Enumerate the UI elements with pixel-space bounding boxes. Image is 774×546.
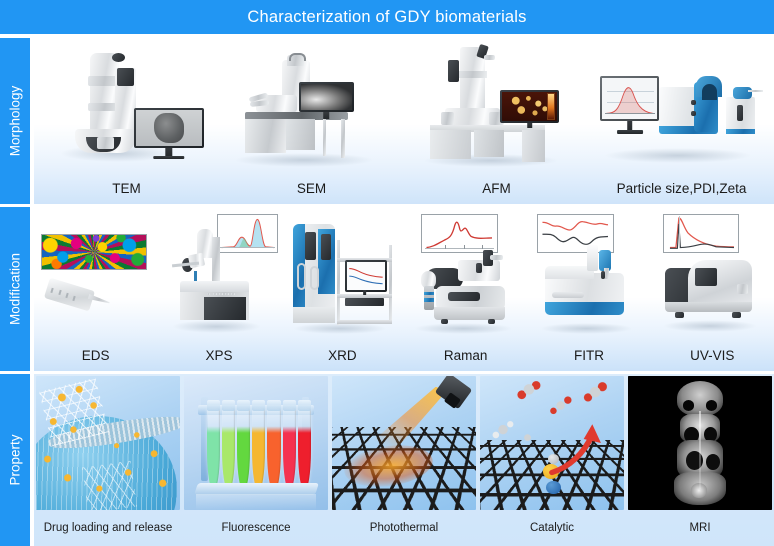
fluorescence-tube <box>283 408 296 491</box>
xrd-instrument-icon <box>281 211 404 341</box>
sem-monitor <box>299 82 355 112</box>
cell-caption: Catalytic <box>478 522 626 534</box>
drug-release-illustration <box>36 376 180 510</box>
cell-caption: XRD <box>281 348 404 363</box>
dls-monitor <box>600 76 659 121</box>
uvvis-absorbance-chart <box>663 214 739 253</box>
cell-particle-size: Particle size,PDI,Zeta <box>589 38 774 204</box>
afm-instrument-icon <box>404 42 589 174</box>
catalysis-molecules-illustration <box>480 376 624 510</box>
cell-uv-vis: UV-VIS <box>651 207 774 371</box>
row-body-modification: EDS <box>34 207 774 371</box>
tem-monitor <box>134 108 204 148</box>
cell-tem: TEM <box>34 38 219 204</box>
dls-instrument-icon <box>589 42 774 174</box>
xrd-monitor <box>345 260 387 291</box>
row-morphology: Morphology <box>0 38 774 204</box>
tube-cap <box>222 400 235 412</box>
cell-caption: TEM <box>34 181 219 196</box>
afm-monitor <box>500 90 559 123</box>
row-tab-label: Morphology <box>8 86 23 157</box>
cell-catalytic: Catalytic <box>478 374 626 546</box>
tube-cap <box>252 400 265 412</box>
tube-cap <box>267 400 280 412</box>
cell-caption: Raman <box>404 348 527 363</box>
cell-raman: Raman <box>404 207 527 371</box>
cell-xrd: XRD <box>281 207 404 371</box>
cell-caption: FITR <box>527 348 650 363</box>
sem-instrument-icon <box>219 42 404 174</box>
mri-mouse-scan-image <box>628 376 772 510</box>
cell-caption: EDS <box>34 348 157 363</box>
fluorescence-tube <box>237 408 250 491</box>
row-modification: Modification <box>0 207 774 371</box>
row-body-property: Drug loading and release <box>34 374 774 546</box>
row-tab-label: Property <box>8 434 23 485</box>
eds-detector-icon <box>34 211 157 341</box>
fluorescence-tube <box>252 408 265 491</box>
row-tab-label: Modification <box>8 253 23 325</box>
ftir-instrument-icon <box>527 211 650 341</box>
xps-instrument-icon <box>157 211 280 341</box>
fluorescence-tube <box>207 408 220 491</box>
ftir-transmittance-chart <box>537 214 613 253</box>
tube-cap <box>207 400 220 412</box>
cell-caption: Photothermal <box>330 522 478 534</box>
cell-mri: MRI <box>626 374 774 546</box>
figure-header: Characterization of GDY biomaterials <box>0 0 774 34</box>
cell-caption: UV-VIS <box>651 348 774 363</box>
raman-spectrum-chart <box>421 214 497 253</box>
row-tab-modification: Modification <box>0 207 30 371</box>
fluorescence-tubes-illustration <box>184 376 328 510</box>
tube-cap <box>283 400 296 412</box>
row-tab-property: Property <box>0 374 30 546</box>
page-title: Characterization of GDY biomaterials <box>247 8 526 27</box>
cell-fluorescence: Fluorescence <box>182 374 330 546</box>
eds-elemental-map <box>41 234 147 270</box>
cell-caption: Drug loading and release <box>34 522 182 534</box>
cell-fitr: FITR <box>527 207 650 371</box>
tube-cap <box>237 400 250 412</box>
cell-sem: SEM <box>219 38 404 204</box>
dls-size-distribution-chart <box>602 78 657 119</box>
cell-xps: XPS <box>157 207 280 371</box>
figure-root: Characterization of GDY biomaterials Mor… <box>0 0 774 546</box>
cell-caption: Fluorescence <box>182 522 330 534</box>
cell-caption: XPS <box>157 348 280 363</box>
tem-instrument-icon <box>34 42 219 174</box>
cell-caption: Particle size,PDI,Zeta <box>589 181 774 196</box>
uvvis-instrument-icon <box>651 211 774 341</box>
row-body-morphology: TEM <box>34 38 774 204</box>
photothermal-laser-illustration <box>332 376 476 510</box>
cell-caption: MRI <box>626 522 774 534</box>
fluorescence-tube <box>298 408 311 491</box>
cell-caption: SEM <box>219 181 404 196</box>
cell-afm: AFM <box>404 38 589 204</box>
fluorescence-tube <box>267 408 280 491</box>
cell-drug-loading: Drug loading and release <box>34 374 182 546</box>
fluorescence-tube <box>222 408 235 491</box>
cell-caption: AFM <box>404 181 589 196</box>
tube-cap <box>298 400 311 412</box>
raman-instrument-icon <box>404 211 527 341</box>
row-property: Property <box>0 374 774 546</box>
cell-photothermal: Photothermal <box>330 374 478 546</box>
row-tab-morphology: Morphology <box>0 38 30 204</box>
xps-survey-spectrum-chart <box>217 214 279 253</box>
cell-eds: EDS <box>34 207 157 371</box>
